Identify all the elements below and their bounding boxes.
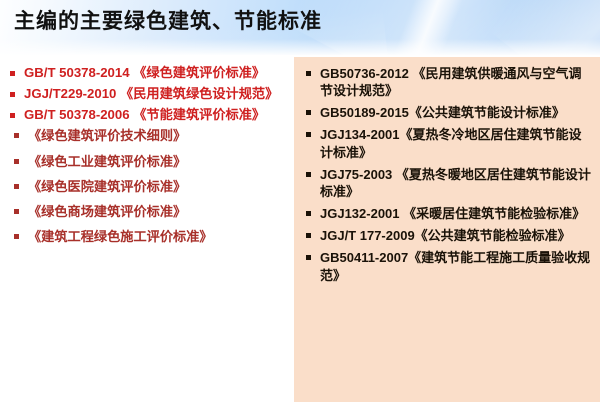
standard-text: JGJ/T229-2010 《民用建筑绿色设计规范》	[24, 86, 278, 101]
list-item: 《绿色建筑评价技术细则》	[8, 127, 286, 144]
header-bottom-fade	[0, 39, 600, 55]
standard-text: GB/T 50378-2006 《节能建筑评价标准》	[24, 107, 265, 122]
list-item: 《绿色医院建筑评价标准》	[8, 178, 286, 195]
list-item: GB50736-2012 《民用建筑供暖通风与空气调节设计规范》	[304, 65, 594, 99]
standard-text: 《绿色商场建筑评价标准》	[28, 204, 186, 219]
energy-saving-standards-list: GB50736-2012 《民用建筑供暖通风与空气调节设计规范》 GB50189…	[304, 65, 594, 284]
standard-text: GB50189-2015《公共建筑节能设计标准》	[320, 105, 565, 120]
list-item: JGJ134-2001《夏热冬冷地区居住建筑节能设计标准》	[304, 126, 594, 160]
list-item: 《建筑工程绿色施工评价标准》	[8, 228, 286, 245]
list-item: JGJ132-2001 《采暖居住建筑节能检验标准》	[304, 205, 594, 222]
standard-text: JGJ75-2003 《夏热冬暖地区居住建筑节能设计标准》	[320, 167, 591, 199]
list-item: 《绿色工业建筑评价标准》	[8, 153, 286, 170]
standard-text: 《绿色医院建筑评价标准》	[28, 179, 186, 194]
standard-text: GB50411-2007《建筑节能工程施工质量验收规范》	[320, 250, 590, 282]
list-item: GB50411-2007《建筑节能工程施工质量验收规范》	[304, 249, 594, 283]
list-item: GB50189-2015《公共建筑节能设计标准》	[304, 104, 594, 121]
left-content-column: GB/T 50378-2014 《绿色建筑评价标准》 JGJ/T229-2010…	[0, 58, 290, 402]
standard-text: GB/T 50378-2014 《绿色建筑评价标准》	[24, 65, 265, 80]
standard-text: JGJ132-2001 《采暖居住建筑节能检验标准》	[320, 206, 585, 221]
standard-text: 《绿色建筑评价技术细则》	[28, 128, 186, 143]
standard-text: 《绿色工业建筑评价标准》	[28, 154, 186, 169]
standard-text: JGJ/T 177-2009《公共建筑节能检验标准》	[320, 228, 571, 243]
list-item: 《绿色商场建筑评价标准》	[8, 203, 286, 220]
standard-text: 《建筑工程绿色施工评价标准》	[28, 229, 213, 244]
list-item: GB/T 50378-2014 《绿色建筑评价标准》	[8, 64, 286, 81]
list-item: JGJ75-2003 《夏热冬暖地区居住建筑节能设计标准》	[304, 166, 594, 200]
list-item: JGJ/T229-2010 《民用建筑绿色设计规范》	[8, 85, 286, 102]
right-content-panel: GB50736-2012 《民用建筑供暖通风与空气调节设计规范》 GB50189…	[294, 57, 600, 402]
standard-text: GB50736-2012 《民用建筑供暖通风与空气调节设计规范》	[320, 66, 582, 98]
list-item: JGJ/T 177-2009《公共建筑节能检验标准》	[304, 227, 594, 244]
page-title: 主编的主要绿色建筑、节能标准	[14, 5, 322, 35]
standard-text: JGJ134-2001《夏热冬冷地区居住建筑节能设计标准》	[320, 127, 582, 159]
green-building-standards-list: GB/T 50378-2014 《绿色建筑评价标准》 JGJ/T229-2010…	[8, 64, 286, 245]
list-item: GB/T 50378-2006 《节能建筑评价标准》	[8, 106, 286, 123]
